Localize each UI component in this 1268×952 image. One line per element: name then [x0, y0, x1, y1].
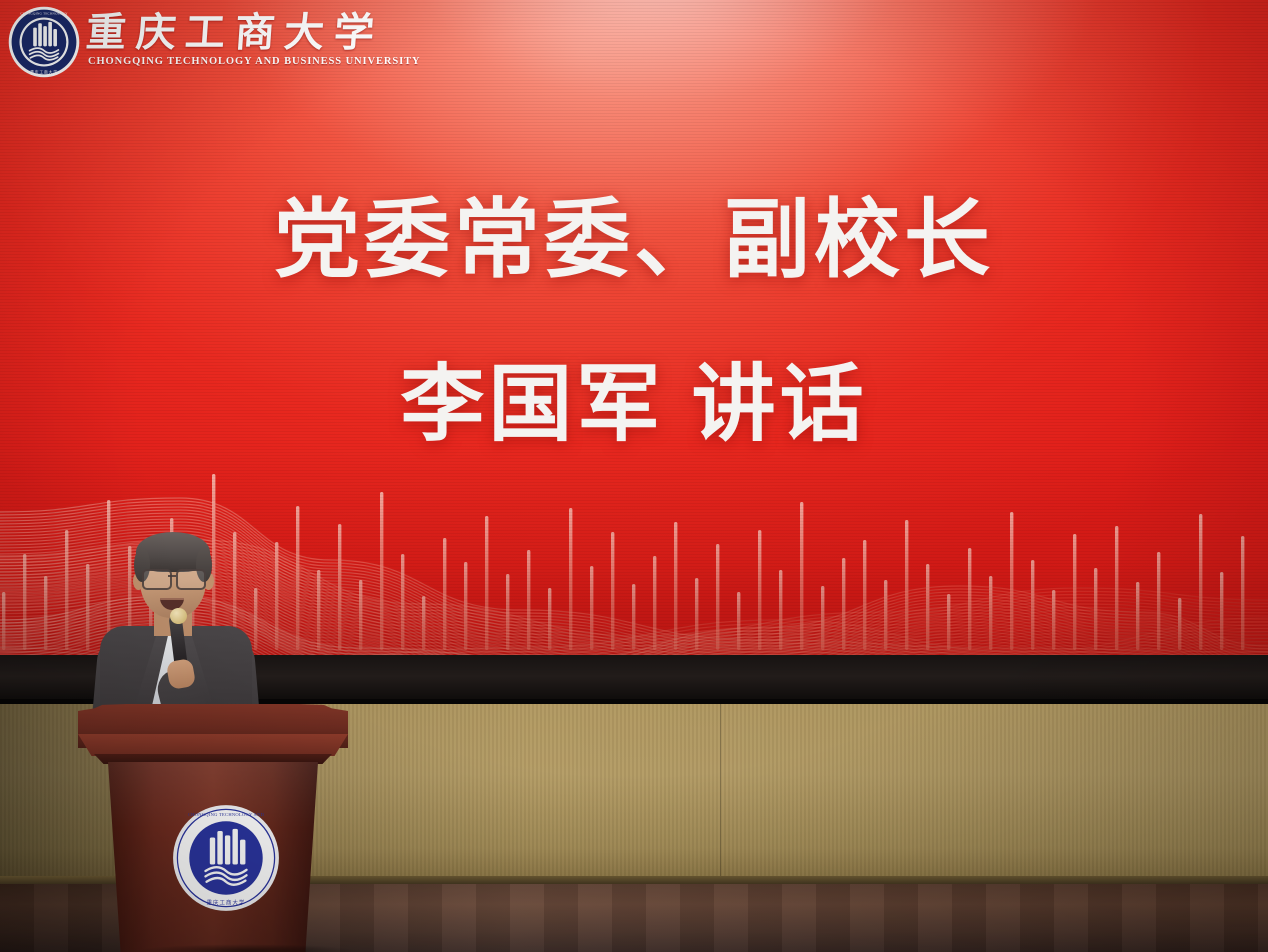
podium-emblem-icon: CHONGQING TECHNOLOGY AND 重庆工商大学 [172, 804, 280, 912]
lectern-podium: CHONGQING TECHNOLOGY AND 重庆工商大学 [78, 704, 348, 952]
brand-name-english: CHONGQING TECHNOLOGY AND BUSINESS UNIVER… [88, 56, 378, 67]
svg-text:重庆工商大学: 重庆工商大学 [30, 70, 58, 75]
brand-char-4: 大 [283, 13, 326, 53]
brand-char-1: 庆 [134, 13, 177, 53]
screenshot-root: CHONGQING TECHNOLOGY 重庆工商大学 重 庆 工 商 大 学 … [0, 0, 1268, 952]
university-seal-icon: CHONGQING TECHNOLOGY 重庆工商大学 [8, 6, 80, 78]
eyeglasses-lens-right [176, 569, 206, 590]
podium-top-face [78, 734, 348, 756]
brand-char-5: 学 [333, 13, 376, 53]
slide-title-block: 党委常委、副校长 李国军 讲话 [0, 188, 1268, 454]
brand-char-2: 工 [184, 13, 227, 53]
svg-text:CHONGQING TECHNOLOGY: CHONGQING TECHNOLOGY [20, 12, 68, 16]
eyeglasses-bridge [168, 575, 176, 577]
slide-title-line-2: 李国军 讲话 [0, 354, 1268, 454]
brand-char-0: 重 [85, 13, 128, 53]
svg-text:CHONGQING TECHNOLOGY AND: CHONGQING TECHNOLOGY AND [188, 812, 265, 817]
slide-title-line-1: 党委常委、副校长 [0, 188, 1268, 292]
eyeglasses-lens-left [142, 569, 172, 590]
podium-floor-shadow [136, 944, 356, 952]
university-brand-logo: CHONGQING TECHNOLOGY 重庆工商大学 重 庆 工 商 大 学 … [6, 2, 376, 82]
brand-name-chinese: 重 庆 工 商 大 学 [86, 8, 374, 58]
brand-char-3: 商 [233, 13, 276, 53]
svg-text:重庆工商大学: 重庆工商大学 [207, 898, 246, 906]
